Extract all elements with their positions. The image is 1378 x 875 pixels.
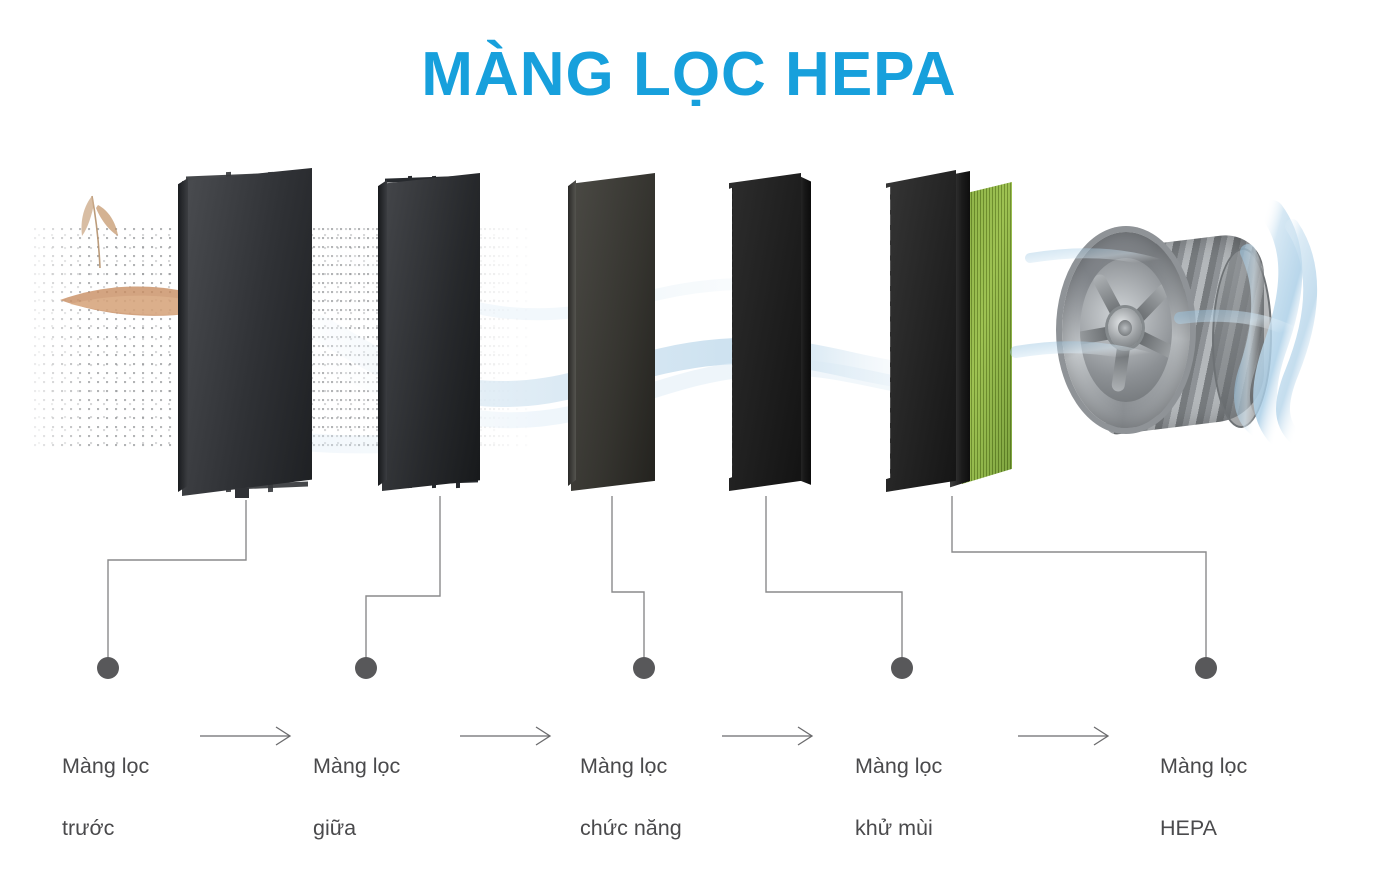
infographic-canvas: MÀNG LỌC HEPA [0,0,1378,862]
flow-arrow-2-3 [460,727,550,745]
flow-arrows [0,0,1378,862]
flow-arrow-1-2 [200,727,290,745]
flow-arrow-4-5 [1018,727,1108,745]
flow-arrow-3-4 [722,727,812,745]
